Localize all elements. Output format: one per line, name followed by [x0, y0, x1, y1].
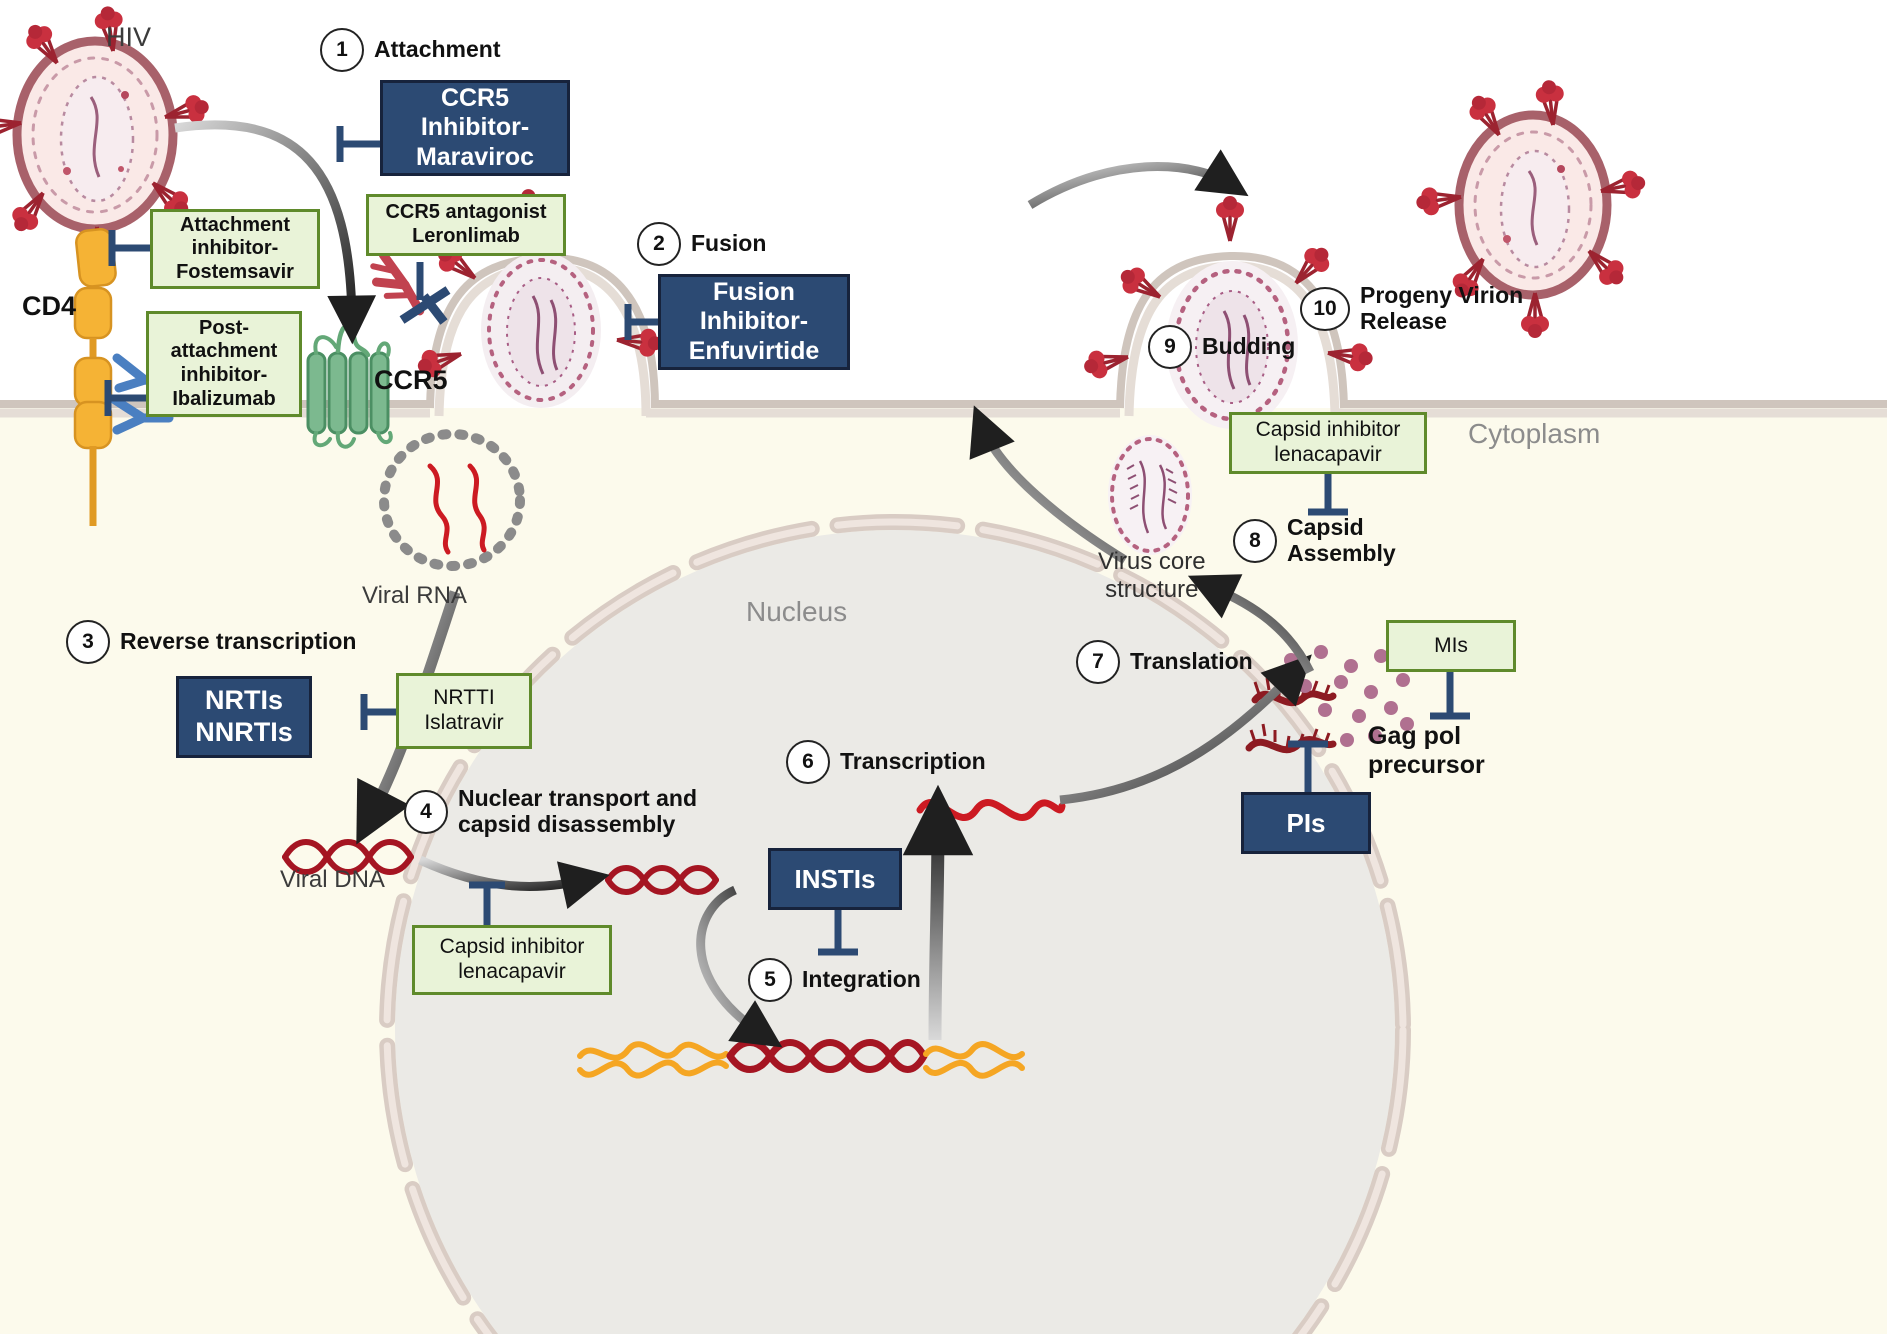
- step-number: 9: [1148, 325, 1192, 369]
- step-2-fusion: 2 Fusion: [637, 222, 766, 266]
- drug-box-attachment-inhibitor-fostemsavir[interactable]: Attachment inhibitor- Fostemsavir: [150, 209, 320, 289]
- step-label: Attachment: [374, 37, 501, 63]
- label-viral-rna: Viral RNA: [362, 582, 467, 610]
- step-label: Transcription: [840, 749, 986, 775]
- step-number: 1: [320, 28, 364, 72]
- drug-box-label: Capsid inhibitor lenacapavir: [1256, 418, 1401, 468]
- step-label: Progeny Virion Release: [1360, 283, 1523, 335]
- step-label: Reverse transcription: [120, 629, 356, 655]
- step-label: Budding: [1202, 334, 1295, 360]
- antibody-leronlimab-icon: [365, 253, 433, 311]
- drug-box-capsid-inhibitor-lenacapavir-cytoplasm[interactable]: Capsid inhibitor lenacapavir: [1229, 412, 1427, 474]
- drug-box-label: PIs: [1286, 808, 1325, 839]
- drug-box-nrtis-nnrtis[interactable]: NRTIs NNRTIs: [176, 676, 312, 758]
- label-nucleus: Nucleus: [746, 596, 847, 628]
- label-cytoplasm: Cytoplasm: [1468, 418, 1600, 450]
- step-number: 10: [1300, 287, 1350, 331]
- label-cd4: CD4: [22, 291, 76, 322]
- drug-box-ccr5-antagonist-leronlimab[interactable]: CCR5 antagonist Leronlimab: [366, 194, 566, 256]
- step-label: Nuclear transport and capsid disassembly: [458, 786, 697, 838]
- step-9-budding: 9 Budding: [1148, 325, 1295, 369]
- step-4-nuclear-transport: 4 Nuclear transport and capsid disassemb…: [404, 786, 697, 838]
- step-number: 3: [66, 620, 110, 664]
- drug-box-fusion-inhibitor-enfuvirtide[interactable]: Fusion Inhibitor- Enfuvirtide: [658, 274, 850, 370]
- drug-box-label: Attachment inhibitor- Fostemsavir: [176, 214, 294, 285]
- step-label: Translation: [1130, 649, 1253, 675]
- drug-box-label: INSTIs: [795, 864, 876, 895]
- step-5-integration: 5 Integration: [748, 958, 921, 1002]
- step-number: 6: [786, 740, 830, 784]
- drug-box-label: Post- attachment inhibitor- Ibalizumab: [171, 317, 278, 411]
- step-6-transcription: 6 Transcription: [786, 740, 986, 784]
- drug-box-label: NRTTI Islatravir: [424, 686, 503, 736]
- drug-box-label: Capsid inhibitor lenacapavir: [440, 935, 585, 985]
- drug-box-ccr5-inhibitor-maraviroc[interactable]: CCR5 Inhibitor- Maraviroc: [380, 80, 570, 176]
- drug-box-label: MIs: [1434, 634, 1468, 659]
- drug-box-instis[interactable]: INSTIs: [768, 848, 902, 910]
- drug-box-label: CCR5 antagonist Leronlimab: [385, 201, 546, 248]
- step-number: 8: [1233, 519, 1277, 563]
- step-label: Fusion: [691, 231, 766, 257]
- arrow-progeny-release: [1030, 167, 1228, 205]
- step-label: Integration: [802, 967, 921, 993]
- label-hiv: HIV: [106, 22, 151, 53]
- drug-box-label: NRTIs NNRTIs: [195, 685, 293, 749]
- label-viral-dna: Viral DNA: [280, 866, 385, 894]
- label-ccr5: CCR5: [374, 365, 448, 396]
- step-10-progeny-virion-release: 10 Progeny Virion Release: [1300, 283, 1523, 335]
- drug-box-post-attachment-inhibitor-ibalizumab[interactable]: Post- attachment inhibitor- Ibalizumab: [146, 311, 302, 417]
- step-7-translation: 7 Translation: [1076, 640, 1253, 684]
- drug-box-nrtti-islatravir[interactable]: NRTTI Islatravir: [396, 673, 532, 749]
- step-8-capsid-assembly: 8 Capsid Assembly: [1233, 515, 1396, 567]
- step-number: 5: [748, 958, 792, 1002]
- step-number: 7: [1076, 640, 1120, 684]
- drug-box-capsid-inhibitor-lenacapavir-nucleus[interactable]: Capsid inhibitor lenacapavir: [412, 925, 612, 995]
- label-gag-pol-precursor: Gag pol precursor: [1368, 722, 1485, 780]
- drug-box-label: CCR5 Inhibitor- Maraviroc: [416, 84, 534, 173]
- drug-box-mis[interactable]: MIs: [1386, 620, 1516, 672]
- step-number: 2: [637, 222, 681, 266]
- step-label: Capsid Assembly: [1287, 515, 1396, 567]
- step-1-attachment: 1 Attachment: [320, 28, 501, 72]
- hiv-replication-cycle-figure: CCR5 Inhibitor- Maraviroc CCR5 antagonis…: [0, 0, 1887, 1334]
- label-virus-core-structure: Virus core structure: [1098, 548, 1206, 603]
- drug-box-label: Fusion Inhibitor- Enfuvirtide: [689, 278, 820, 367]
- drug-box-pis[interactable]: PIs: [1241, 792, 1371, 854]
- step-3-reverse-transcription: 3 Reverse transcription: [66, 620, 356, 664]
- step-number: 4: [404, 790, 448, 834]
